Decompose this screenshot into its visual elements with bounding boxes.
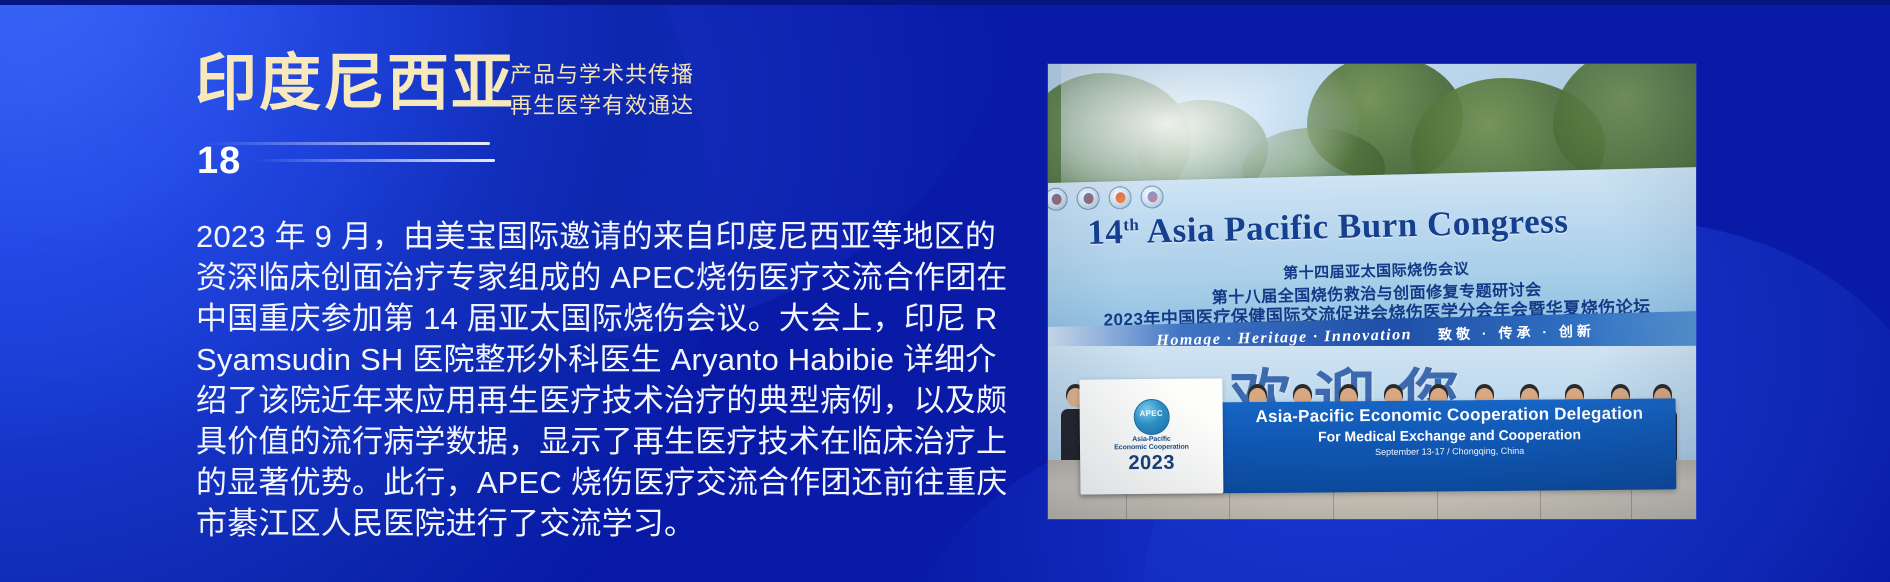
title-row: 印度尼西亚 产品与学术共传播 再生医学有效通达 (195, 49, 1015, 131)
subtitle-line-1: 产品与学术共传播 (510, 59, 694, 90)
organizer-logo-icon (1108, 186, 1132, 210)
page-title: 印度尼西亚 (195, 49, 515, 119)
delegation-banner: Asia-Pacific Economic Cooperation 2023 A… (1080, 398, 1677, 494)
subtitle-block: 产品与学术共传播 再生医学有效通达 (510, 59, 694, 121)
apec-card-year: 2023 (1129, 451, 1176, 474)
slide-root: 印度尼西亚 产品与学术共传播 再生医学有效通达 18 2023 年 9 月，由美… (0, 0, 1890, 582)
delegation-line-3: September 13-17 / Chongqing, China (1235, 445, 1664, 459)
divider-line-lower (255, 159, 495, 162)
congress-title-rest: Asia Pacific Burn Congress (1139, 202, 1569, 251)
divider-line-upper (205, 142, 490, 145)
subtitle-line-2: 再生医学有效通达 (510, 90, 694, 121)
apec-globe-icon (1133, 398, 1169, 434)
item-number: 18 (197, 140, 241, 183)
congress-title-en: 14th Asia Pacific Burn Congress (1086, 202, 1568, 254)
body-paragraph: 2023 年 9 月，由美宝国际邀请的来自印度尼西亚等地区的资深临床创面治疗专家… (196, 216, 1026, 544)
congress-edition-number: 14 (1086, 213, 1123, 253)
congress-edition-suffix: th (1123, 216, 1140, 235)
body-text: 2023 年 9 月，由美宝国际邀请的来自印度尼西亚等地区的资深临床创面治疗专家… (196, 216, 1026, 544)
organizer-logo-icon (1140, 185, 1164, 209)
apec-card-subtitle: Asia-Pacific Economic Cooperation (1115, 435, 1190, 452)
delegation-line-2: For Medical Exchange and Cooperation (1235, 426, 1664, 446)
apec-card-line-1: Asia-Pacific (1115, 435, 1190, 444)
delegation-line-1: Asia-Pacific Economic Cooperation Delega… (1235, 404, 1664, 428)
apec-card-line-2: Economic Cooperation (1115, 443, 1190, 452)
text-column: 印度尼西亚 产品与学术共传播 再生医学有效通达 18 2023 年 9 月，由美… (0, 0, 1040, 582)
event-photo: 14th Asia Pacific Burn Congress 第十四届亚太国际… (1048, 64, 1696, 519)
organizer-logo-icon (1048, 188, 1068, 212)
organizer-logos (1048, 185, 1164, 211)
apec-card: Asia-Pacific Economic Cooperation 2023 (1080, 378, 1224, 494)
organizer-logo-icon (1076, 187, 1100, 211)
delegation-banner-text: Asia-Pacific Economic Cooperation Delega… (1235, 404, 1665, 459)
